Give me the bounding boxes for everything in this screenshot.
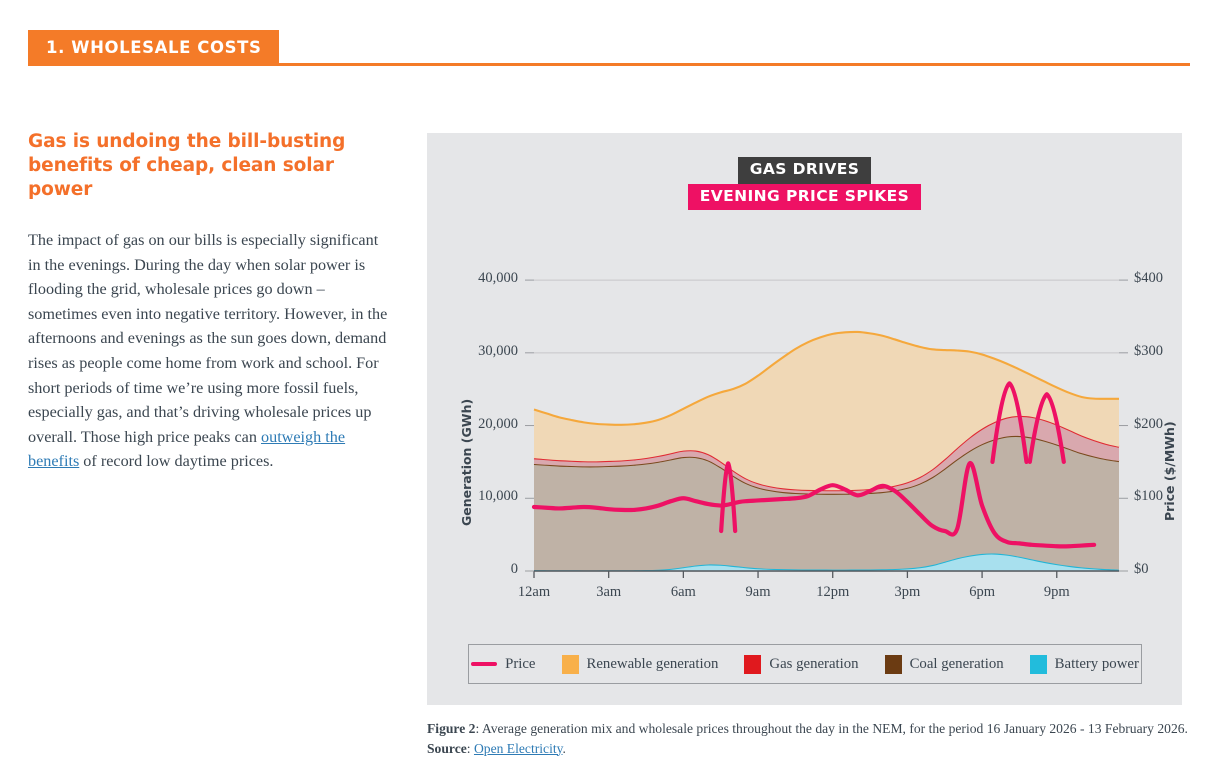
caption-source-label: Source bbox=[427, 741, 467, 756]
legend-label: Battery power bbox=[1055, 656, 1139, 673]
legend-color-swatch bbox=[885, 655, 902, 674]
article-body: The impact of gas on our bills is especi… bbox=[28, 228, 390, 474]
section-header: 1. WHOLESALE COSTS bbox=[0, 0, 1212, 80]
y-axis-tick-left: 40,000 bbox=[446, 270, 518, 287]
chart-legend: PriceRenewable generationGas generationC… bbox=[468, 644, 1142, 684]
chart-panel: GAS DRIVES EVENING PRICE SPIKES Generati… bbox=[427, 133, 1182, 705]
y-axis-tick-right: $400 bbox=[1134, 270, 1206, 287]
chart-title-line2: EVENING PRICE SPIKES bbox=[688, 184, 921, 211]
article-body-part1: The impact of gas on our bills is especi… bbox=[28, 231, 387, 446]
article-body-part2: of record low daytime prices. bbox=[79, 452, 273, 470]
legend-label: Price bbox=[505, 656, 535, 673]
x-axis-tick: 6am bbox=[648, 584, 718, 601]
x-axis-tick: 9pm bbox=[1022, 584, 1092, 601]
article-headline: Gas is undoing the bill-busting benefits… bbox=[28, 130, 390, 202]
section-tab-label: 1. WHOLESALE COSTS bbox=[46, 38, 261, 57]
y-axis-tick-right: $100 bbox=[1134, 488, 1206, 505]
chart-title-badges: GAS DRIVES EVENING PRICE SPIKES bbox=[427, 157, 1182, 210]
legend-item-coal-generation[interactable]: Coal generation bbox=[885, 655, 1004, 674]
legend-label: Coal generation bbox=[910, 656, 1004, 673]
y-axis-title-right: Price ($/MWh) bbox=[1162, 421, 1177, 521]
section-tab: 1. WHOLESALE COSTS bbox=[28, 30, 279, 64]
legend-color-swatch bbox=[562, 655, 579, 674]
y-axis-tick-right: $200 bbox=[1134, 416, 1206, 433]
y-axis-tick-left: 0 bbox=[446, 561, 518, 578]
y-axis-tick-left: 30,000 bbox=[446, 343, 518, 360]
legend-item-battery-power[interactable]: Battery power bbox=[1030, 655, 1139, 674]
caption-text-1: : Average generation mix and wholesale p… bbox=[475, 721, 1187, 736]
y-axis-tick-right: $0 bbox=[1134, 561, 1206, 578]
page-root: 1. WHOLESALE COSTS Gas is undoing the bi… bbox=[0, 0, 1212, 771]
section-divider bbox=[28, 63, 1190, 66]
x-axis-tick: 12pm bbox=[798, 584, 868, 601]
x-axis-tick: 6pm bbox=[947, 584, 1017, 601]
x-axis-tick: 3pm bbox=[872, 584, 942, 601]
open-electricity-link[interactable]: Open Electricity bbox=[474, 741, 563, 756]
plot-area: Generation (GWh) Price ($/MWh) 010,00020… bbox=[427, 236, 1182, 636]
chart-title-row-1: GAS DRIVES bbox=[427, 157, 1182, 184]
legend-item-gas-generation[interactable]: Gas generation bbox=[744, 655, 858, 674]
legend-color-swatch bbox=[1030, 655, 1047, 674]
chart-title-row-2: EVENING PRICE SPIKES bbox=[427, 184, 1182, 211]
chart-svg bbox=[427, 236, 1182, 636]
article-column: Gas is undoing the bill-busting benefits… bbox=[28, 130, 390, 474]
caption-text-2: : bbox=[467, 741, 474, 756]
legend-item-renewable-generation[interactable]: Renewable generation bbox=[562, 655, 719, 674]
x-axis-tick: 9am bbox=[723, 584, 793, 601]
caption-figure-label: Figure 2 bbox=[427, 721, 475, 736]
x-axis-tick: 12am bbox=[499, 584, 569, 601]
x-axis-tick: 3am bbox=[574, 584, 644, 601]
caption-text-3: . bbox=[563, 741, 566, 756]
legend-line-marker bbox=[471, 662, 497, 666]
figure-caption: Figure 2: Average generation mix and who… bbox=[427, 719, 1197, 758]
y-axis-tick-left: 10,000 bbox=[446, 488, 518, 505]
chart-title-line1: GAS DRIVES bbox=[738, 157, 872, 184]
legend-label: Gas generation bbox=[769, 656, 858, 673]
legend-label: Renewable generation bbox=[587, 656, 719, 673]
legend-item-price[interactable]: Price bbox=[471, 656, 535, 673]
y-axis-tick-left: 20,000 bbox=[446, 416, 518, 433]
legend-color-swatch bbox=[744, 655, 761, 674]
y-axis-tick-right: $300 bbox=[1134, 343, 1206, 360]
